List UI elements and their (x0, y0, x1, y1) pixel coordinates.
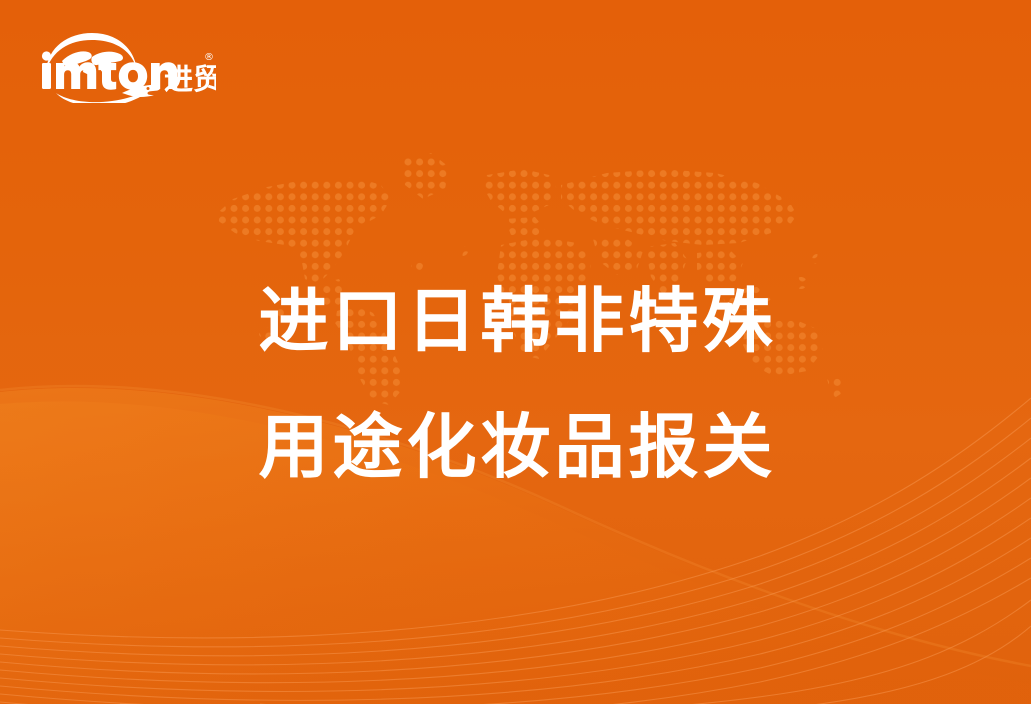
logo-wordmark-latin (42, 51, 177, 90)
logo-wordmark-chinese: 进贸通 (164, 62, 216, 96)
page-title-line-1: 进口日韩非特殊 (0, 258, 1031, 384)
registered-trademark-icon: ® (204, 52, 214, 63)
promotional-banner: 进贸通 ® 进口日韩非特殊 用途化妆品报关 (0, 0, 1031, 704)
company-logo[interactable]: 进贸通 ® (38, 27, 216, 103)
page-title-line-2: 用途化妆品报关 (0, 384, 1031, 510)
page-title: 进口日韩非特殊 用途化妆品报关 (0, 258, 1031, 510)
